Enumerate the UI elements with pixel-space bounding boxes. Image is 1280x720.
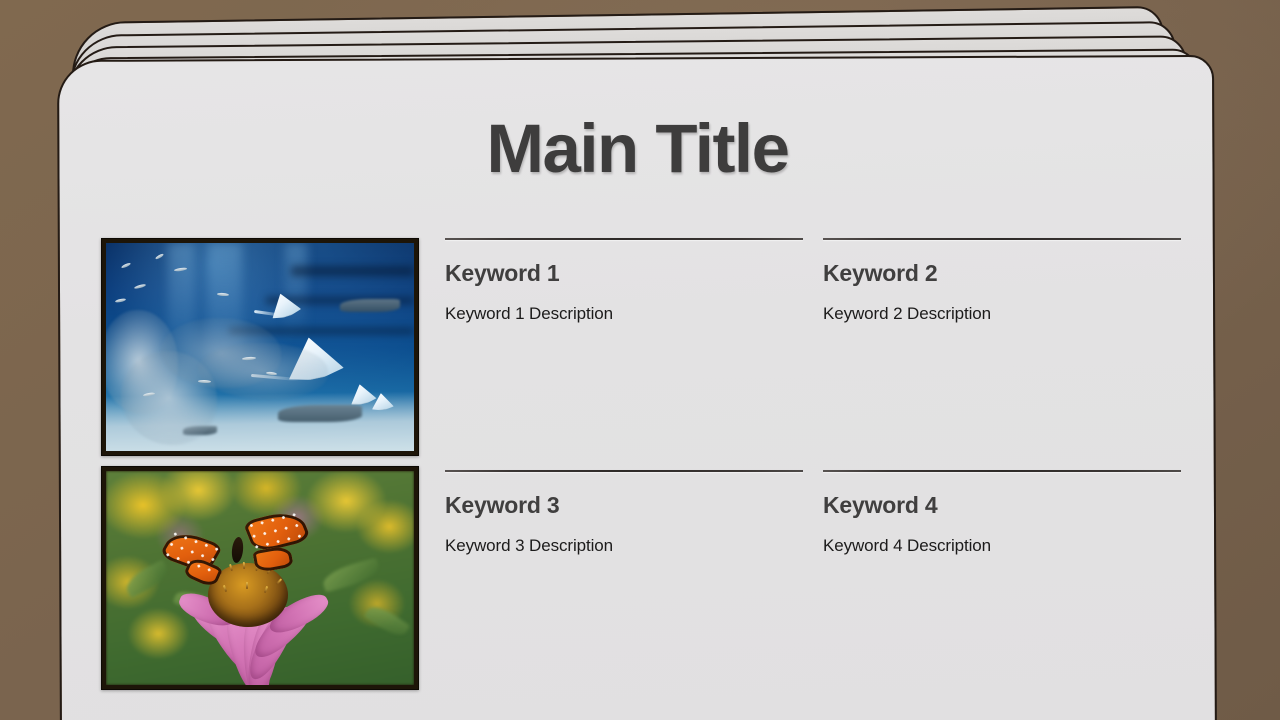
- tank-structure: [291, 266, 414, 276]
- keyword-title: Keyword 3: [445, 492, 803, 519]
- keyword-title: Keyword 4: [823, 492, 1181, 519]
- divider: [445, 470, 803, 472]
- keyword-title: Keyword 1: [445, 260, 803, 287]
- keyword-description: Keyword 1 Description: [445, 304, 803, 324]
- aquarium-photo[interactable]: [101, 238, 419, 456]
- keyword-description: Keyword 4 Description: [823, 536, 1181, 556]
- shark-icon: [340, 299, 400, 312]
- slide-canvas: Main Title: [0, 0, 1280, 720]
- keyword-block-4: Keyword 4 Keyword 4 Description: [823, 470, 1181, 556]
- divider: [823, 238, 1181, 240]
- fish-school: [198, 343, 328, 399]
- divider: [823, 470, 1181, 472]
- divider: [445, 238, 803, 240]
- butterfly-photo[interactable]: [101, 466, 419, 690]
- keyword-description: Keyword 2 Description: [823, 304, 1181, 324]
- butterfly-photo-canvas: [106, 471, 414, 685]
- page-title: Main Title: [59, 109, 1216, 188]
- keyword-title: Keyword 2: [823, 260, 1181, 287]
- keyword-block-3: Keyword 3 Keyword 3 Description: [445, 470, 803, 556]
- keyword-description: Keyword 3 Description: [445, 536, 803, 556]
- shark-icon: [278, 405, 362, 422]
- aquarium-photo-canvas: [106, 243, 414, 451]
- keyword-block-1: Keyword 1 Keyword 1 Description: [445, 238, 803, 324]
- front-page: Main Title: [57, 55, 1217, 720]
- keyword-block-2: Keyword 2 Keyword 2 Description: [823, 238, 1181, 324]
